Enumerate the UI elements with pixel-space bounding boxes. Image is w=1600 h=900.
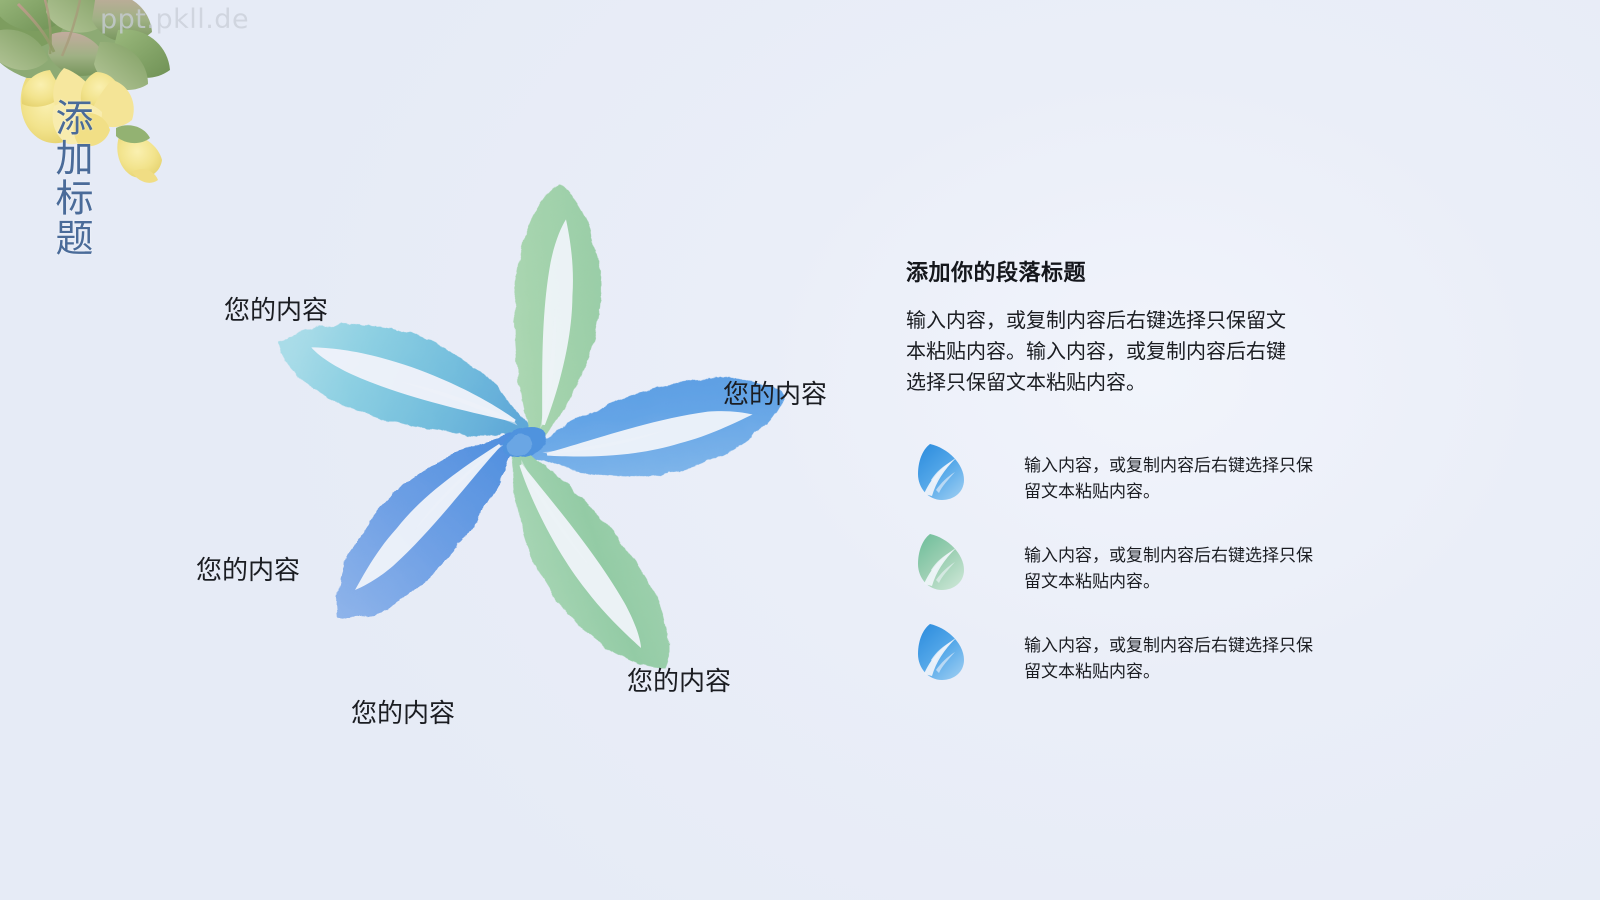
presentation-slide: ppt.pkll.de xyxy=(0,0,1600,900)
content-panel: 添加你的段落标题 输入内容，或复制内容后右键选择只保留文本粘贴内容。输入内容，或… xyxy=(906,255,1316,398)
list-item: 输入内容，或复制内容后右键选择只保留文本粘贴内容。 xyxy=(906,440,1316,506)
pinwheel-diagram xyxy=(235,160,815,730)
page-title: 添加标题 xyxy=(44,98,90,258)
list-item-text: 输入内容，或复制内容后右键选择只保留文本粘贴内容。 xyxy=(1024,620,1314,685)
diagram-label-bottom-left: 您的内容 xyxy=(196,550,300,587)
list-item-text: 输入内容，或复制内容后右键选择只保留文本粘贴内容。 xyxy=(1024,440,1314,505)
list-item-text: 输入内容，或复制内容后右键选择只保留文本粘贴内容。 xyxy=(1024,530,1314,595)
leaf-icon-blue xyxy=(914,620,970,682)
bullet-list: 输入内容，或复制内容后右键选择只保留文本粘贴内容。 xyxy=(906,440,1316,710)
diagram-label-top-left: 您的内容 xyxy=(224,290,328,327)
list-item: 输入内容，或复制内容后右键选择只保留文本粘贴内容。 xyxy=(906,620,1316,686)
leaf-icon-green xyxy=(914,530,970,592)
petal-left xyxy=(338,432,519,620)
diagram-label-right: 您的内容 xyxy=(723,374,827,411)
list-item: 输入内容，或复制内容后右键选择只保留文本粘贴内容。 xyxy=(906,530,1316,596)
paragraph-body: 输入内容，或复制内容后右键选择只保留文本粘贴内容。输入内容，或复制内容后右键选择… xyxy=(906,305,1304,398)
paragraph-heading: 添加你的段落标题 xyxy=(906,255,1316,287)
diagram-label-bottom-right: 您的内容 xyxy=(627,661,731,698)
diagram-label-bottom: 您的内容 xyxy=(351,693,455,730)
leaf-icon-blue xyxy=(914,440,970,502)
